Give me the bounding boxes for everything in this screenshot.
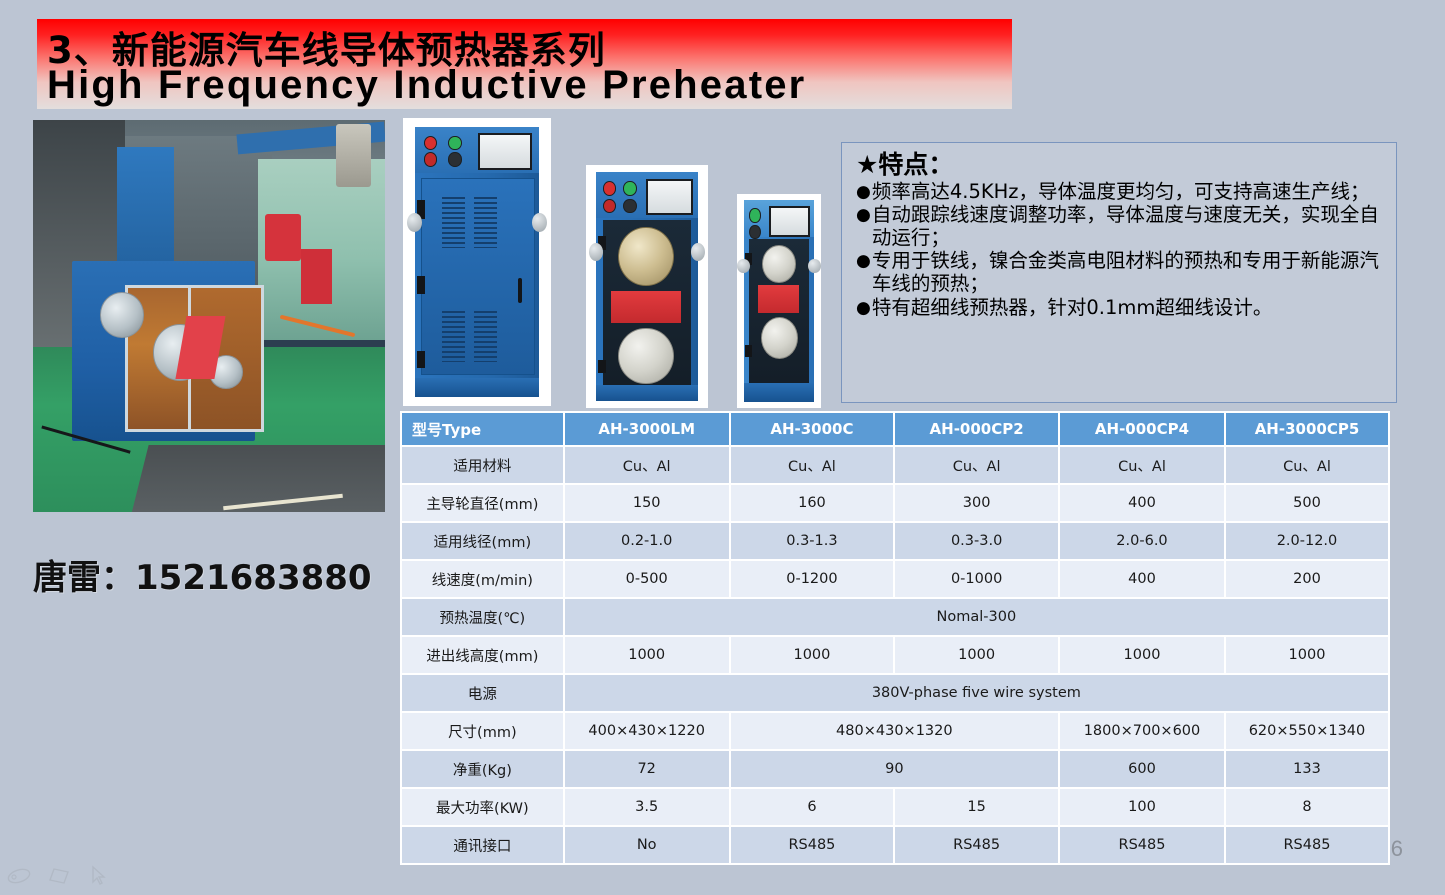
pen-icon[interactable] [6, 865, 32, 887]
table-cell: 400 [1060, 561, 1224, 597]
features-heading: ★特点： [856, 151, 1384, 179]
table-cell: 3.5 [565, 789, 729, 825]
table-cell: RS485 [895, 827, 1058, 863]
vent-grille-1 [442, 197, 464, 248]
table-cell: 8 [1226, 789, 1388, 825]
wire-inlet [407, 213, 422, 232]
contact-info: 唐雷：1521683880 [33, 550, 372, 599]
table-row: 通讯接口NoRS485RS485RS485RS485 [402, 827, 1388, 863]
table-cell: 500 [1226, 485, 1388, 521]
preheater-open-cabinet-photo [586, 165, 708, 408]
table-row: 适用材料Cu、AlCu、AlCu、AlCu、AlCu、Al [402, 447, 1388, 483]
table-col-header-type: 型号Type [402, 413, 563, 445]
vent-grille-3 [442, 311, 464, 362]
table-cell: 0-500 [565, 561, 729, 597]
guide-wheel-bottom [618, 328, 673, 385]
table-col-header-model-1: AH-3000LM [565, 413, 729, 445]
table-header: 型号TypeAH-3000LMAH-3000CAH-000CP2AH-000CP… [402, 413, 1388, 445]
table-row: 进出线高度(mm)10001000100010001000 [402, 637, 1388, 673]
cursor-icon[interactable] [86, 865, 112, 887]
table-cell: RS485 [1060, 827, 1224, 863]
table-cell: 400 [1060, 485, 1224, 521]
title-english: High Frequency Inductive Preheater [47, 63, 806, 108]
table-cell: 1800×700×600 [1060, 713, 1224, 749]
table-row-label: 进出线高度(mm) [402, 637, 563, 673]
wire-outlet [532, 213, 547, 232]
feature-text: 频率高达4.5KHz，导体温度更均匀，可支持高速生产线； [872, 181, 1384, 204]
indicator-green [623, 181, 636, 196]
machine-base [596, 385, 698, 401]
table-row-label: 线速度(m/min) [402, 561, 563, 597]
preheater-compact-cabinet-photo [737, 194, 821, 408]
indicator-black [623, 199, 636, 214]
bullet-icon: ● [856, 250, 871, 272]
features-panel: ★特点： ● 频率高达4.5KHz，导体温度更均匀，可支持高速生产线； ● 自动… [841, 142, 1397, 403]
factory-line-photo [33, 120, 385, 512]
door-handle [518, 278, 522, 302]
feature-item: ● 专用于铁线，镍合金类高电阻材料的预热和专用于新能源汽车线的预热； [856, 250, 1384, 295]
wire-inlet [589, 243, 603, 261]
photo-red-fixture [265, 214, 300, 261]
bullet-icon: ● [856, 181, 871, 203]
table-cell: 90 [731, 751, 1058, 787]
table-row-label: 主导轮直径(mm) [402, 485, 563, 521]
wire-outlet [808, 259, 821, 273]
table-cell: 1000 [731, 637, 894, 673]
table-row-label: 通讯接口 [402, 827, 563, 863]
table-row: 尺寸(mm)400×430×1220480×430×13201800×700×6… [402, 713, 1388, 749]
feature-item: ● 频率高达4.5KHz，导体温度更均匀，可支持高速生产线； [856, 181, 1384, 204]
table-cell: Cu、Al [1060, 447, 1224, 483]
table-cell: No [565, 827, 729, 863]
table-cell: 0.3-3.0 [895, 523, 1058, 559]
table-row: 预热温度(℃)Nomal-300 [402, 599, 1388, 635]
hmi-screen [478, 133, 532, 169]
table-cell: 200 [1226, 561, 1388, 597]
table-cell: 15 [895, 789, 1058, 825]
table-cell: 600 [1060, 751, 1224, 787]
table-cell: 0.3-1.3 [731, 523, 894, 559]
table-cell: 1000 [565, 637, 729, 673]
table-row-label: 最大功率(KW) [402, 789, 563, 825]
table-col-header-model-4: AH-000CP4 [1060, 413, 1224, 445]
red-transformer [611, 291, 681, 323]
table-cell: 480×430×1320 [731, 713, 1058, 749]
feature-text: 专用于铁线，镍合金类高电阻材料的预热和专用于新能源汽车线的预热； [872, 250, 1384, 295]
machine-body [415, 127, 539, 398]
feature-item: ● 自动跟踪线速度调整功率，导体温度与速度无关，实现全自动运行； [856, 204, 1384, 249]
table-body: 适用材料Cu、AlCu、AlCu、AlCu、AlCu、Al主导轮直径(mm)15… [402, 447, 1388, 863]
hmi-screen [769, 206, 810, 236]
table-col-header-model-5: AH-3000CP5 [1226, 413, 1388, 445]
table-cell: 620×550×1340 [1226, 713, 1388, 749]
table-row-label: 适用材料 [402, 447, 563, 483]
table-cell: RS485 [731, 827, 894, 863]
table-cell: Cu、Al [731, 447, 894, 483]
table-row-label: 适用线径(mm) [402, 523, 563, 559]
guide-wheel-top [762, 245, 796, 283]
table-cell: 150 [565, 485, 729, 521]
table-cell: 0.2-1.0 [565, 523, 729, 559]
table-row: 线速度(m/min)0-5000-12000-1000400200 [402, 561, 1388, 597]
table-cell: 100 [1060, 789, 1224, 825]
table-cell: 133 [1226, 751, 1388, 787]
table-row: 主导轮直径(mm)150160300400500 [402, 485, 1388, 521]
door-hinge-2 [417, 276, 424, 295]
preheater-closed-cabinet-photo [403, 118, 551, 406]
table-cell: 2.0-6.0 [1060, 523, 1224, 559]
feature-text: 特有超细线预热器，针对0.1mm超细线设计。 [872, 297, 1384, 320]
table-cell: 0-1000 [895, 561, 1058, 597]
table-cell: 1000 [1060, 637, 1224, 673]
table-cell: Cu、Al [895, 447, 1058, 483]
table-cell: 1000 [1226, 637, 1388, 673]
table-row-label: 电源 [402, 675, 563, 711]
table-col-header-model-2: AH-3000C [731, 413, 894, 445]
page-number: 6 [1391, 836, 1403, 862]
table-row-label: 净重(Kg) [402, 751, 563, 787]
feature-text: 自动跟踪线速度调整功率，导体温度与速度无关，实现全自动运行； [872, 204, 1384, 249]
machine-body [744, 200, 815, 401]
red-transformer [758, 285, 799, 313]
indicator-green [448, 136, 461, 150]
table-cell: 380V-phase five wire system [565, 675, 1388, 711]
indicator-red-1 [603, 181, 616, 196]
machine-base [744, 383, 815, 401]
specification-table: 型号TypeAH-3000LMAH-3000CAH-000CP2AH-000CP… [400, 411, 1390, 865]
guide-wheel-bottom [761, 317, 798, 359]
eraser-icon[interactable] [46, 865, 72, 887]
feature-item: ● 特有超细线预热器，针对0.1mm超细线设计。 [856, 297, 1384, 320]
presenter-toolbar[interactable] [6, 865, 112, 887]
photo-red-clamp [301, 249, 333, 304]
table-cell: 160 [731, 485, 894, 521]
table-cell: RS485 [1226, 827, 1388, 863]
table-cell: 2.0-12.0 [1226, 523, 1388, 559]
table-row: 适用线径(mm)0.2-1.00.3-1.30.3-3.02.0-6.02.0-… [402, 523, 1388, 559]
table-row: 最大功率(KW)3.56151008 [402, 789, 1388, 825]
machine-base [415, 378, 539, 397]
bullet-icon: ● [856, 204, 871, 226]
vent-grille-4 [474, 311, 496, 362]
table-cell: 72 [565, 751, 729, 787]
indicator-black [749, 225, 760, 239]
table-cell: 1000 [895, 637, 1058, 673]
table-cell: 400×430×1220 [565, 713, 729, 749]
table-row-label: 尺寸(mm) [402, 713, 563, 749]
table-row: 净重(Kg)7290600133 [402, 751, 1388, 787]
guide-wheel-top [618, 227, 673, 286]
indicator-red-1 [424, 136, 437, 150]
wire-inlet [737, 259, 750, 273]
door-hinge-2 [745, 345, 752, 357]
photo-duct [336, 124, 371, 187]
table-col-header-model-3: AH-000CP2 [895, 413, 1058, 445]
table-row-label: 预热温度(℃) [402, 599, 563, 635]
table-header-row: 型号TypeAH-3000LMAH-3000CAH-000CP2AH-000CP… [402, 413, 1388, 445]
photo-pulley-1 [100, 292, 144, 337]
photo-machine-frame [117, 147, 173, 272]
indicator-black [448, 152, 461, 166]
machine-body [596, 172, 698, 400]
vent-grille-2 [474, 197, 496, 248]
table-cell: 0-1200 [731, 561, 894, 597]
table-cell: 6 [731, 789, 894, 825]
wire-outlet [691, 243, 705, 261]
door-hinge-2 [598, 360, 606, 374]
table-cell: Nomal-300 [565, 599, 1388, 635]
hmi-screen [646, 179, 693, 215]
table-cell: 300 [895, 485, 1058, 521]
indicator-red-2 [424, 152, 437, 166]
table-cell: Cu、Al [565, 447, 729, 483]
table-row: 电源380V-phase five wire system [402, 675, 1388, 711]
indicator-green [749, 208, 760, 222]
table-cell: Cu、Al [1226, 447, 1388, 483]
door-hinge-3 [417, 351, 424, 367]
bullet-icon: ● [856, 297, 871, 319]
